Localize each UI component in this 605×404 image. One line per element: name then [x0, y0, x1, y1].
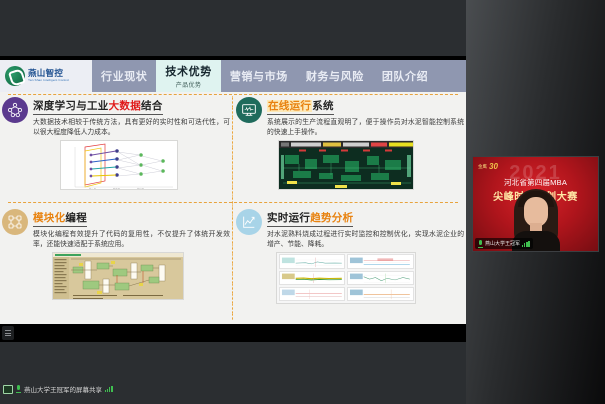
- feature-title: 实时运行趋势分析: [267, 212, 353, 227]
- mini-trend-chart: [279, 271, 346, 286]
- logo-text-en: Yan Shan Intelligent Control: [28, 79, 69, 82]
- nav-tab-label: 营销与市场: [230, 68, 288, 84]
- feature-description: 模块化编程有效提升了代码的复用性，不仅提升了体统开发效率，还能快速适配于系统应用…: [33, 230, 230, 250]
- screen-share-region: 燕山智控 Yan Shan Intelligent Control 行业现状 技…: [0, 0, 466, 404]
- feature-description: 系统展示的生产流程直观明了，便于操作员对水泥智能控制系统的快速上手操作。: [267, 118, 464, 138]
- company-logo-icon: [5, 66, 25, 86]
- title-part-highlight: 趋势分析: [310, 212, 353, 224]
- nav-tab-marketing[interactable]: 营销与市场: [221, 60, 297, 92]
- zoom-meeting-window: 燕山智控 Yan Shan Intelligent Control 行业现状 技…: [0, 0, 605, 404]
- modules-icon: [2, 209, 28, 235]
- neural-network-diagram: 输入层隐含层输出层: [60, 140, 178, 190]
- microphone-icon: [16, 385, 21, 393]
- nav-tab-finance[interactable]: 财务与风险: [297, 60, 373, 92]
- company-logo: 燕山智控 Yan Shan Intelligent Control: [0, 60, 92, 92]
- slide-nav: 行业现状 技术优势 产品优势 营销与市场 财务与风险 团队介绍: [92, 60, 466, 92]
- feature-title: 在线运行系统: [267, 100, 334, 115]
- mini-trend-chart: [279, 287, 346, 302]
- trend-charts-screenshot: [276, 252, 416, 304]
- neural-network-icon: [2, 97, 28, 123]
- nav-tab-label: 技术优势: [165, 63, 211, 79]
- feature-block-modular-programming: 模块化编程 模块化编程有效提升了代码的复用性，不仅提升了体统开发效率，还能快速适…: [2, 208, 230, 316]
- nav-tab-team[interactable]: 团队介绍: [373, 60, 437, 92]
- svg-text:输出层: 输出层: [137, 187, 145, 190]
- slide-content-grid: 深度学习与工业大数据结合 大数据技术相较于传统方法，具有更好的实时性和可迭代性，…: [0, 92, 466, 324]
- share-bottom-black-band: [0, 324, 466, 342]
- feature-title: 深度学习与工业大数据结合: [33, 100, 163, 115]
- feature-description: 大数据技术相较于传统方法，具有更好的实时性和可迭代性，可以很大程度降低人力成本。: [33, 118, 230, 138]
- presentation-slide: 燕山智控 Yan Shan Intelligent Control 行业现状 技…: [0, 60, 466, 324]
- trend-chart-icon: [236, 209, 262, 235]
- title-part-highlight: 在线运行: [267, 100, 312, 112]
- monitor-icon: [236, 97, 262, 123]
- ladder-logic-screenshot: [52, 252, 184, 300]
- hmi-control-screenshot: [278, 140, 414, 190]
- divider-top: [8, 94, 458, 95]
- title-part: 编程: [65, 212, 87, 224]
- svg-text:隐含层: 隐含层: [113, 187, 121, 190]
- feature-block-deep-learning: 深度学习与工业大数据结合 大数据技术相较于传统方法，具有更好的实时性和可迭代性，…: [2, 96, 230, 204]
- signal-bars-icon: [105, 386, 113, 392]
- share-top-letterbox: [0, 0, 466, 56]
- nav-tab-sublabel: 产品优势: [176, 80, 202, 89]
- screen-share-status: 燕山大学王冠军的屏幕共享: [3, 383, 113, 395]
- slide-header-bar: 燕山智控 Yan Shan Intelligent Control 行业现状 技…: [0, 60, 466, 92]
- title-part-highlight: 大数据: [109, 100, 141, 112]
- nav-tab-label: 行业现状: [101, 68, 147, 84]
- mini-trend-chart: [347, 287, 414, 302]
- participant-video-tile[interactable]: 金鹰 30 2021 河北省第四届MBA 尖峰时刻策划大赛 燕山大学王冠军: [472, 156, 599, 252]
- nav-tab-technology[interactable]: 技术优势 产品优势: [156, 60, 220, 92]
- share-drag-handle[interactable]: [2, 326, 14, 340]
- mini-trend-chart: [347, 254, 414, 269]
- screen-share-icon: [3, 385, 13, 394]
- nav-tab-label: 团队介绍: [382, 68, 428, 84]
- title-part: 实时运行: [267, 212, 310, 224]
- nav-tab-label: 财务与风险: [306, 68, 364, 84]
- title-part-highlight: 模块化: [33, 212, 65, 224]
- mini-trend-chart: [347, 271, 414, 286]
- backdrop-line1: 河北省第四届MBA: [473, 177, 598, 188]
- share-label-text: 燕山大学王冠军的屏幕共享: [24, 384, 102, 394]
- title-part: 深度学习与工业: [33, 100, 109, 112]
- mini-trend-chart: [279, 254, 346, 269]
- svg-text:输入层: 输入层: [89, 187, 97, 190]
- feature-title: 模块化编程: [33, 212, 87, 227]
- logo-text-cn: 燕山智控: [28, 69, 69, 78]
- signal-bars-icon: [522, 241, 530, 247]
- feature-block-online-system: 在线运行系统 系统展示的生产流程直观明了，便于操作员对水泥智能控制系统的快速上手…: [236, 96, 464, 204]
- participant-name-badge: 燕山大学王冠军: [475, 238, 533, 249]
- title-part: 系统: [312, 100, 334, 112]
- title-part: 结合: [141, 100, 163, 112]
- participant-name: 燕山大学王冠军: [485, 240, 520, 247]
- feature-description: 对水泥熟料烧成过程进行实时监控和控制优化，实现水泥企业的增产、节能、降耗。: [267, 230, 464, 250]
- microphone-icon: [478, 240, 483, 248]
- feature-block-trend-analysis: 实时运行趋势分析 对水泥熟料烧成过程进行实时监控和控制优化，实现水泥企业的增产、…: [236, 208, 464, 316]
- nav-tab-industry[interactable]: 行业现状: [92, 60, 156, 92]
- divider-vertical: [232, 96, 233, 320]
